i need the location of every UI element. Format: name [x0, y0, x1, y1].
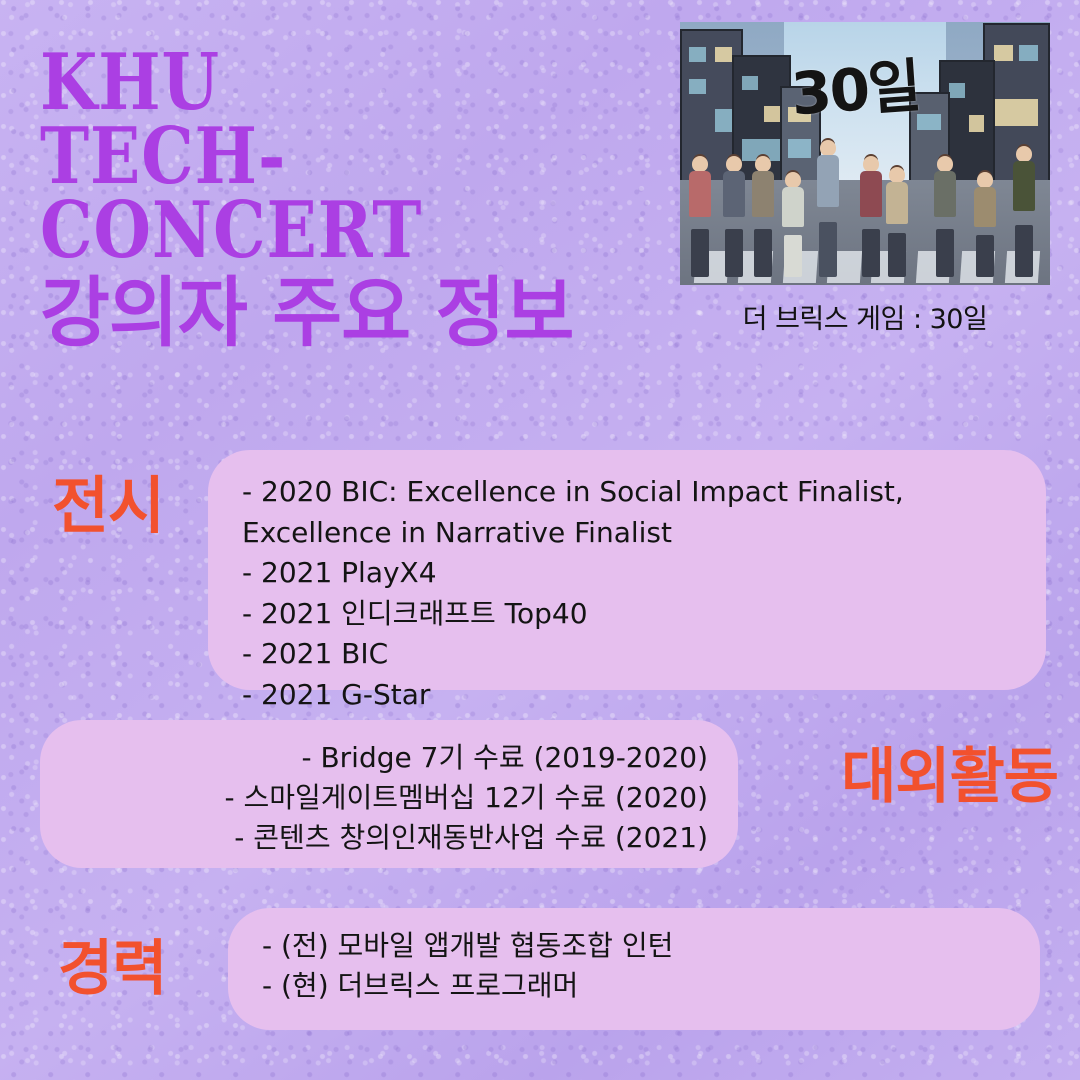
character-figure [721, 156, 747, 277]
section-card-activities: - Bridge 7기 수료 (2019-2020) - 스마일게이트멤버십 1… [40, 720, 738, 868]
poster-title-block: KHU TECH- CONCERT 강의자 주요 정보 [40, 46, 670, 352]
list-item: - 2021 PlayX4 [242, 553, 1012, 594]
section-label-exhibition: 전시 [52, 455, 164, 545]
list-item: - 2021 BIC [242, 634, 1012, 675]
poster-canvas: KHU TECH- CONCERT 강의자 주요 정보 [0, 0, 1080, 1080]
character-figure [750, 156, 776, 277]
list-item: - 콘텐츠 창의인재동반사업 수료 (2021) [70, 818, 708, 858]
title-line-3: CONCERT [40, 194, 632, 268]
section-body-activities: - Bridge 7기 수료 (2019-2020) - 스마일게이트멤버십 1… [70, 738, 708, 857]
character-figure [780, 172, 806, 277]
game-artwork-image: 30일 [680, 22, 1050, 285]
list-item: - 스마일게이트멤버십 12기 수료 (2020) [70, 778, 708, 818]
title-line-1: KHU [40, 46, 632, 120]
game-thumbnail-block: 30일 더 브릭스 게임 : 30일 [680, 22, 1050, 336]
character-figure [932, 156, 958, 277]
character-figure [813, 140, 843, 277]
list-item: Excellence in Narrative Finalist [242, 513, 1012, 554]
list-item: - (전) 모바일 앱개발 협동조합 인턴 [262, 926, 1006, 966]
section-body-exhibition: - 2020 BIC: Excellence in Social Impact … [242, 472, 1012, 716]
list-item: - 2020 BIC: Excellence in Social Impact … [242, 472, 1012, 513]
game-caption: 더 브릭스 게임 : 30일 [680, 297, 1050, 336]
character-figure [884, 167, 910, 277]
title-korean-subtitle: 강의자 주요 정보 [40, 274, 670, 352]
section-label-activities: 대외활동 [841, 728, 1058, 815]
list-item: - Bridge 7기 수료 (2019-2020) [70, 738, 708, 778]
section-card-career: - (전) 모바일 앱개발 협동조합 인턴 - (현) 더브릭스 프로그래머 [228, 908, 1040, 1030]
section-label-career: 경력 [58, 920, 166, 1007]
character-figure [858, 156, 884, 277]
character-figure [687, 156, 713, 277]
character-figure [972, 172, 998, 277]
title-line-2: TECH- [40, 120, 632, 194]
list-item: - (현) 더브릭스 프로그래머 [262, 966, 1006, 1006]
section-body-career: - (전) 모바일 앱개발 협동조합 인턴 - (현) 더브릭스 프로그래머 [262, 926, 1006, 1006]
character-figure [1009, 146, 1039, 278]
game-logo-text: 30일 [788, 39, 922, 132]
section-card-exhibition: - 2020 BIC: Excellence in Social Impact … [208, 450, 1046, 690]
list-item: - 2021 G-Star [242, 675, 1012, 716]
list-item: - 2021 인디크래프트 Top40 [242, 594, 1012, 635]
